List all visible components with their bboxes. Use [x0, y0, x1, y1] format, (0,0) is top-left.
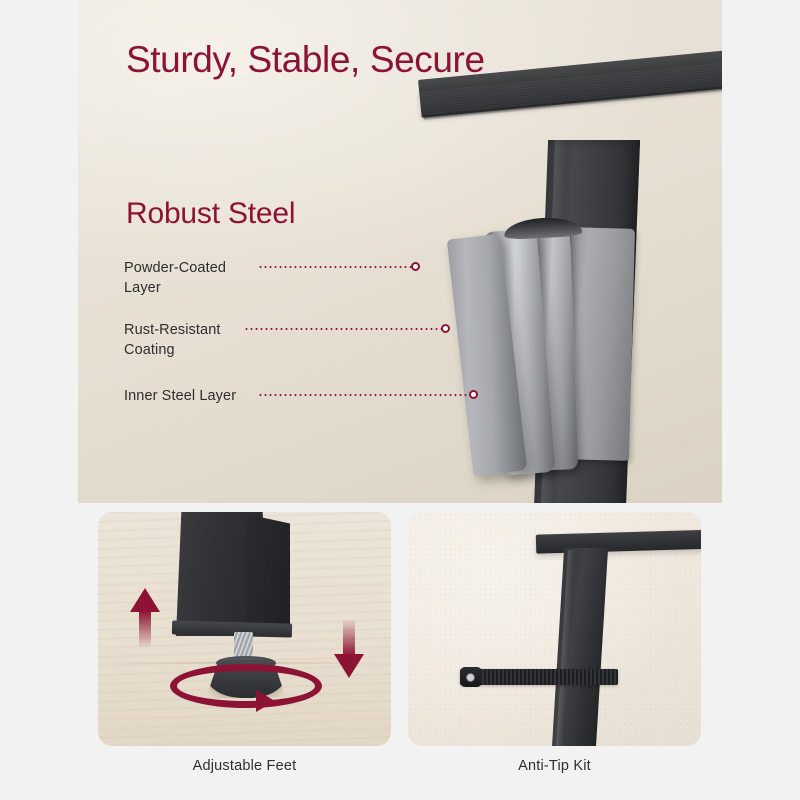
callout-label-inner-steel: Inner Steel Layer — [124, 386, 236, 406]
panel-anti-tip-kit — [408, 512, 701, 746]
callout-leader-line-1 — [244, 328, 444, 330]
hero-section: Sturdy, Stable, Secure Robust Steel Powd… — [78, 0, 722, 503]
arrow-down-tail — [343, 620, 355, 656]
rotation-arrow-icon — [170, 664, 322, 708]
panel-caption-anti-tip-kit: Anti-Tip Kit — [408, 758, 701, 774]
callout-label-powder-coated: Powder-Coated Layer — [124, 258, 226, 298]
callout-label-rust-resistant: Rust-Resistant Coating — [124, 320, 221, 360]
callout-marker-icon-0 — [411, 262, 420, 271]
callout-leader-line-0 — [258, 266, 413, 268]
arrow-down-icon — [334, 620, 354, 678]
feature-panels: Adjustable Feet Anti-Tip Kit — [0, 503, 800, 800]
panel-adjustable-feet — [98, 512, 391, 746]
anti-tip-strap — [460, 669, 618, 685]
callout-marker-icon-1 — [441, 324, 450, 333]
callout-leader-line-2 — [258, 394, 472, 396]
steel-layers-cutaway — [456, 228, 646, 490]
arrow-up-icon — [130, 588, 150, 646]
arrow-down-head — [334, 654, 364, 678]
panel-caption-adjustable-feet: Adjustable Feet — [98, 758, 391, 774]
callout-marker-icon-2 — [469, 390, 478, 399]
table-leg-side — [246, 514, 290, 632]
arrow-up-tail — [139, 611, 151, 647]
section-title: Robust Steel — [126, 197, 295, 231]
anti-tip-strap-grommet — [466, 673, 475, 682]
arrow-up-head — [130, 588, 160, 612]
page-title: Sturdy, Stable, Secure — [126, 38, 485, 82]
product-infographic: Sturdy, Stable, Secure Robust Steel Powd… — [0, 0, 800, 800]
rotation-arrow-head-icon — [256, 690, 275, 712]
